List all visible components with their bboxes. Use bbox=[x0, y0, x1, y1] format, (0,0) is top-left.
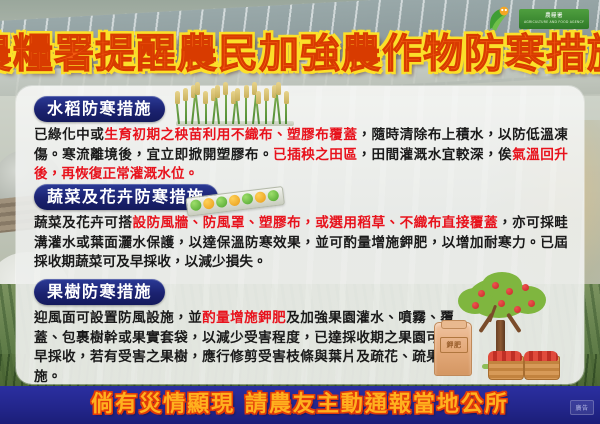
poster-root: 農糧署 AGRICULTURE AND FOOD AGENCY 農糧署提醒農民加… bbox=[0, 0, 600, 424]
agency-logo-en: AGRICULTURE AND FOOD AGENCY bbox=[524, 20, 584, 25]
section-heading-fruit-trees: 果樹防寒措施 bbox=[34, 279, 165, 305]
agency-logo: 農糧署 AGRICULTURE AND FOOD AGENCY bbox=[486, 3, 594, 35]
text-run-4: ，田間灌溉水宜較深，俟 bbox=[357, 147, 512, 163]
section-rice: 水稻防寒措施 已綠化中或生育初期之秧苗利用不織布、塑膠布覆蓋，隨時清除布上積水，… bbox=[34, 96, 568, 185]
poster-title-wrap: 農糧署提醒農民加強農作物防寒措施 bbox=[0, 28, 600, 80]
text-run-1: 設防風牆、防風罩、塑膠布，或選用稻草、不織布直接覆蓋 bbox=[132, 215, 498, 231]
section-fruit-trees: 果樹防寒措施 迎風面可設置防風設施，並酌量增施鉀肥及加強果園灌水、噴霧、覆蓋、包… bbox=[34, 279, 454, 387]
text-run-0: 迎風面可設置防風設施，並 bbox=[34, 310, 202, 326]
footer-banner: 倘有災情顯現 請農友主動通報當地公所 廣告 bbox=[0, 386, 600, 424]
footer-text: 倘有災情顯現 請農友主動通報當地公所 bbox=[91, 392, 509, 418]
section-body-fruit-trees: 迎風面可設置防風設施，並酌量增施鉀肥及加強果園灌水、噴霧、覆蓋、包裹樹幹或果實套… bbox=[34, 309, 454, 387]
section-heading-rice: 水稻防寒措施 bbox=[34, 96, 165, 122]
agency-logo-cn: 農糧署 bbox=[545, 13, 563, 20]
agency-logo-wordmark: 農糧署 AGRICULTURE AND FOOD AGENCY bbox=[519, 9, 589, 29]
section-vegetables: 蔬菜及花卉防寒措施 蔬菜及花卉可搭設防風牆、防風罩、塑膠布，或選用稻草、不織布直… bbox=[34, 184, 568, 273]
text-run-3: 已插秧之田區 bbox=[273, 147, 357, 163]
text-run-1: 酌量增施鉀肥 bbox=[202, 310, 286, 326]
agency-logo-icon bbox=[486, 4, 516, 34]
text-run-1: 生育初期之秧苗利用不織布、塑膠布覆蓋 bbox=[104, 127, 357, 143]
ad-badge: 廣告 bbox=[570, 400, 594, 415]
text-run-0: 蔬菜及花卉可搭 bbox=[34, 215, 132, 231]
poster-title: 農糧署提醒農民加強農作物防寒措施 bbox=[0, 30, 600, 78]
text-run-0: 已綠化中或 bbox=[34, 127, 104, 143]
section-heading-vegetables: 蔬菜及花卉防寒措施 bbox=[34, 184, 218, 210]
section-body-rice: 已綠化中或生育初期之秧苗利用不織布、塑膠布覆蓋，隨時清除布上積水，以防低溫凍傷。… bbox=[34, 126, 568, 185]
section-body-vegetables: 蔬菜及花卉可搭設防風牆、防風罩、塑膠布，或選用稻草、不織布直接覆蓋，亦可採畦溝灌… bbox=[34, 214, 568, 273]
